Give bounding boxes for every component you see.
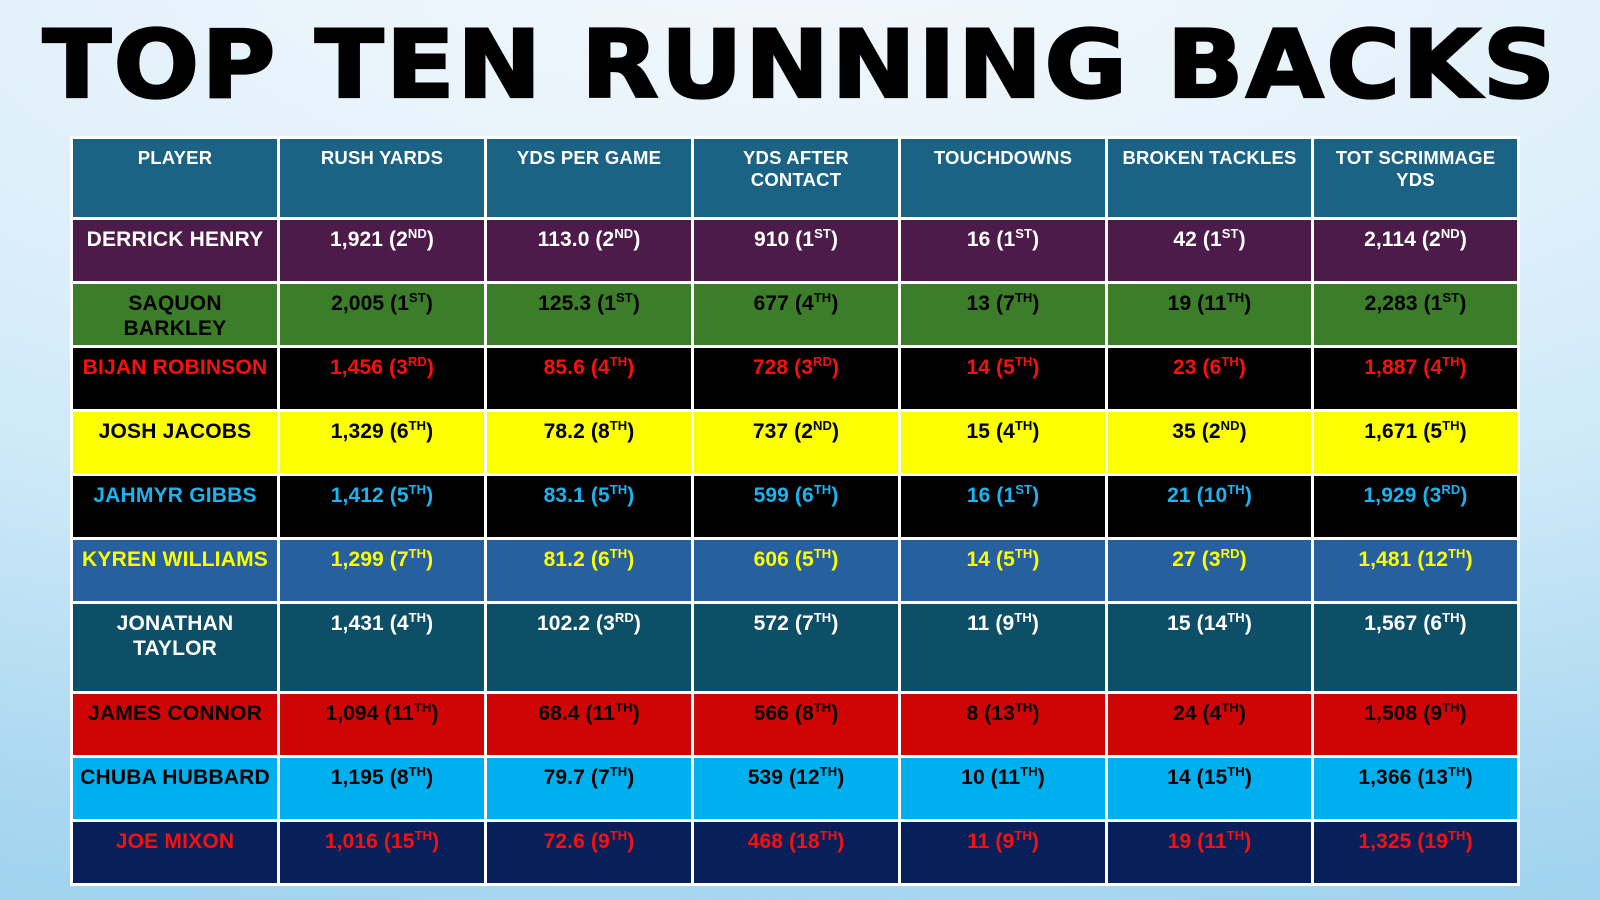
column-header-tot-scrimmage-yds[interactable]: TOT SCRIMMAGE YDS (1314, 139, 1517, 217)
stat-rank: 6 (397, 420, 409, 443)
stat-value: 11 (967, 612, 989, 635)
table-row: CHUBA HUBBARD1,195 (8TH)79.7 (7TH)539 (1… (73, 758, 1517, 819)
stat-value: 1,921 (330, 228, 383, 251)
stat-rank: 1 (604, 292, 616, 315)
cell-rush-yards: 2,005 (1ST) (280, 284, 484, 345)
stat-value: 16 (967, 228, 991, 251)
cell-yds-after-contact: 572 (7TH) (694, 604, 898, 691)
cell-yds-after-contact: 728 (3RD) (694, 348, 898, 409)
stat-rank: 10 (1204, 484, 1228, 507)
cell-rush-yards: 1,329 (6TH) (280, 412, 484, 473)
stat-rank-suffix: TH (1227, 482, 1245, 497)
stat-value: 8 (966, 702, 978, 725)
stat-rank: 19 (1424, 830, 1448, 853)
stat-rank-suffix: TH (1015, 418, 1033, 433)
column-header-yds-per-game[interactable]: YDS PER GAME (487, 139, 691, 217)
player-name-cell[interactable]: CHUBA HUBBARD (73, 758, 277, 819)
cell-broken-tackles: 19 (11TH) (1108, 822, 1311, 883)
stat-rank-suffix: RD (408, 354, 427, 369)
cell-yds-after-contact: 910 (1ST) (694, 220, 898, 281)
stat-rank: 4 (1003, 420, 1015, 443)
cell-tot-scrimmage-yds: 1,325 (19TH) (1314, 822, 1517, 883)
stat-rank-suffix: TH (610, 482, 628, 497)
cell-touchdowns: 15 (4TH) (901, 412, 1105, 473)
stat-rank: 7 (598, 766, 610, 789)
cell-yds-after-contact: 566 (8TH) (694, 694, 898, 755)
stat-rank-suffix: TH (814, 482, 832, 497)
stat-rank-suffix: RD (813, 354, 832, 369)
stat-rank-suffix: TH (820, 828, 838, 843)
stat-value: 1,929 (1364, 484, 1417, 507)
stat-value: 72.6 (544, 830, 585, 853)
stat-rank: 3 (1430, 484, 1442, 507)
stat-rank: 11 (392, 702, 414, 725)
cell-yds-per-game: 78.2 (8TH) (487, 412, 691, 473)
stat-rank: 6 (802, 484, 814, 507)
stat-value: 81.2 (544, 548, 585, 571)
table-row: BIJAN ROBINSON1,456 (3RD)85.6 (4TH)728 (… (73, 348, 1517, 409)
cell-tot-scrimmage-yds: 1,671 (5TH) (1314, 412, 1517, 473)
player-name-cell[interactable]: JAHMYR GIBBS (73, 476, 277, 537)
stat-value: 468 (748, 830, 783, 853)
cell-yds-per-game: 83.1 (5TH) (487, 476, 691, 537)
stat-rank-suffix: TH (1221, 700, 1239, 715)
stat-rank: 2 (1429, 228, 1441, 251)
stat-rank: 11 (593, 702, 615, 725)
cell-tot-scrimmage-yds: 2,114 (2ND) (1314, 220, 1517, 281)
stat-value: 24 (1173, 702, 1197, 725)
stat-value: 1,567 (1364, 612, 1417, 635)
stat-rank-suffix: TH (414, 700, 432, 715)
stat-rank: 1 (397, 292, 409, 315)
stat-rank: 13 (991, 702, 1015, 725)
stat-value: 11 (967, 830, 989, 853)
cell-yds-after-contact: 468 (18TH) (694, 822, 898, 883)
stat-rank: 9 (1003, 830, 1015, 853)
cell-yds-after-contact: 606 (5TH) (694, 540, 898, 601)
player-name-cell[interactable]: JOE MIXON (73, 822, 277, 883)
stat-rank: 2 (603, 228, 615, 251)
stat-value: 42 (1173, 228, 1197, 251)
stat-rank: 3 (396, 356, 408, 379)
cell-yds-per-game: 79.7 (7TH) (487, 758, 691, 819)
stat-rank: 5 (1003, 548, 1015, 571)
stat-rank-suffix: TH (1227, 764, 1245, 779)
stats-table-container: PLAYER RUSH YARDS YDS PER GAME YDS AFTER… (70, 136, 1496, 886)
stat-rank-suffix: ST (1222, 226, 1239, 241)
stat-rank: 11 (1204, 292, 1226, 315)
stat-rank: 12 (1424, 548, 1448, 571)
stat-value: 1,325 (1358, 830, 1411, 853)
stat-value: 68.4 (538, 702, 579, 725)
stat-rank: 14 (1204, 612, 1228, 635)
stat-rank: 3 (801, 356, 813, 379)
stat-rank-suffix: TH (814, 290, 832, 305)
cell-tot-scrimmage-yds: 2,283 (1ST) (1314, 284, 1517, 345)
cell-broken-tackles: 23 (6TH) (1108, 348, 1311, 409)
stat-rank: 5 (1003, 356, 1015, 379)
stat-rank: 8 (802, 702, 814, 725)
stat-value: 737 (753, 420, 788, 443)
cell-tot-scrimmage-yds: 1,567 (6TH) (1314, 604, 1517, 691)
stat-value: 677 (754, 292, 789, 315)
stat-rank: 12 (796, 766, 820, 789)
stat-value: 1,299 (331, 548, 384, 571)
stat-rank: 7 (802, 612, 814, 635)
stat-rank: 1 (1210, 228, 1222, 251)
stat-rank: 4 (1210, 702, 1222, 725)
cell-broken-tackles: 19 (11TH) (1108, 284, 1311, 345)
slide-canvas: TOP TEN RUNNING BACKS PLAYER RUSH YARDS … (0, 0, 1600, 900)
stat-value: 1,508 (1364, 702, 1417, 725)
stat-rank-suffix: RD (615, 610, 634, 625)
stat-rank: 1 (802, 228, 814, 251)
cell-yds-per-game: 68.4 (11TH) (487, 694, 691, 755)
stat-rank-suffix: TH (1227, 828, 1245, 843)
cell-broken-tackles: 35 (2ND) (1108, 412, 1311, 473)
stat-rank: 7 (1003, 292, 1015, 315)
stat-rank-suffix: TH (1442, 610, 1460, 625)
stat-rank-suffix: TH (409, 482, 427, 497)
stat-rank-suffix: ND (1221, 418, 1240, 433)
cell-yds-after-contact: 539 (12TH) (694, 758, 898, 819)
stat-value: 1,456 (330, 356, 383, 379)
cell-broken-tackles: 14 (15TH) (1108, 758, 1311, 819)
stat-value: 2,283 (1365, 292, 1418, 315)
cell-yds-per-game: 81.2 (6TH) (487, 540, 691, 601)
stat-rank-suffix: ND (813, 418, 832, 433)
stat-value: 1,329 (331, 420, 384, 443)
table-header-row: PLAYER RUSH YARDS YDS PER GAME YDS AFTER… (73, 139, 1517, 217)
stat-value: 15 (966, 420, 990, 443)
stat-value: 1,195 (331, 766, 384, 789)
player-name-cell[interactable]: JAMES CONNOR (73, 694, 277, 755)
stat-rank-suffix: TH (814, 700, 832, 715)
cell-tot-scrimmage-yds: 1,887 (4TH) (1314, 348, 1517, 409)
stat-rank-suffix: ST (1442, 290, 1459, 305)
stat-rank: 9 (1430, 702, 1442, 725)
table-row: KYREN WILLIAMS1,299 (7TH)81.2 (6TH)606 (… (73, 540, 1517, 601)
stat-value: 16 (967, 484, 991, 507)
cell-touchdowns: 14 (5TH) (901, 540, 1105, 601)
stat-rank: 6 (598, 548, 610, 571)
stat-value: 21 (1167, 484, 1191, 507)
cell-yds-after-contact: 599 (6TH) (694, 476, 898, 537)
stat-value: 78.2 (544, 420, 585, 443)
cell-broken-tackles: 15 (14TH) (1108, 604, 1311, 691)
stat-rank-suffix: TH (1448, 546, 1466, 561)
stat-rank-suffix: TH (1448, 828, 1466, 843)
stat-value: 2,114 (1364, 228, 1416, 251)
stat-rank-suffix: ND (614, 226, 633, 241)
stat-value: 599 (754, 484, 789, 507)
cell-rush-yards: 1,431 (4TH) (280, 604, 484, 691)
cell-yds-per-game: 125.3 (1ST) (487, 284, 691, 345)
table-row: JAMES CONNOR1,094 (11TH)68.4 (11TH)566 (… (73, 694, 1517, 755)
table-row: JAHMYR GIBBS1,412 (5TH)83.1 (5TH)599 (6T… (73, 476, 1517, 537)
cell-yds-after-contact: 737 (2ND) (694, 412, 898, 473)
stat-rank-suffix: TH (1020, 764, 1038, 779)
player-name-cell[interactable]: DERRICK HENRY (73, 220, 277, 281)
stat-rank: 4 (1430, 356, 1442, 379)
cell-tot-scrimmage-yds: 1,508 (9TH) (1314, 694, 1517, 755)
cell-rush-yards: 1,094 (11TH) (280, 694, 484, 755)
stat-rank-suffix: ST (409, 290, 426, 305)
stat-rank: 2 (801, 420, 813, 443)
player-name-cell[interactable]: KYREN WILLIAMS (73, 540, 277, 601)
stat-rank-suffix: TH (1442, 418, 1460, 433)
stat-rank-suffix: TH (615, 700, 633, 715)
stat-rank: 4 (802, 292, 814, 315)
stat-value: 125.3 (538, 292, 591, 315)
cell-touchdowns: 16 (1ST) (901, 220, 1105, 281)
player-name-cell[interactable]: BIJAN ROBINSON (73, 348, 277, 409)
stat-rank-suffix: ND (1441, 226, 1460, 241)
stat-rank-suffix: TH (1227, 610, 1245, 625)
stat-rank: 5 (397, 484, 409, 507)
cell-broken-tackles: 42 (1ST) (1108, 220, 1311, 281)
stat-rank: 18 (796, 830, 820, 853)
stat-rank: 5 (598, 484, 610, 507)
cell-touchdowns: 10 (11TH) (901, 758, 1105, 819)
stat-value: 15 (1167, 612, 1191, 635)
stat-rank-suffix: TH (820, 764, 838, 779)
stat-rank: 4 (598, 356, 610, 379)
stat-rank: 2 (396, 228, 408, 251)
stat-rank: 9 (598, 830, 610, 853)
stat-rank-suffix: TH (1442, 700, 1460, 715)
stat-value: 13 (966, 292, 990, 315)
cell-touchdowns: 8 (13TH) (901, 694, 1105, 755)
column-header-broken-tackles[interactable]: BROKEN TACKLES (1108, 139, 1311, 217)
stat-value: 113.0 (538, 228, 590, 251)
cell-tot-scrimmage-yds: 1,481 (12TH) (1314, 540, 1517, 601)
cell-tot-scrimmage-yds: 1,929 (3RD) (1314, 476, 1517, 537)
stat-rank: 5 (1430, 420, 1442, 443)
stat-rank: 8 (598, 420, 610, 443)
table-body: DERRICK HENRY1,921 (2ND)113.0 (2ND)910 (… (73, 220, 1517, 883)
cell-rush-yards: 1,456 (3RD) (280, 348, 484, 409)
stat-value: 728 (753, 356, 788, 379)
stat-rank-suffix: TH (415, 828, 433, 843)
stat-rank: 7 (397, 548, 409, 571)
cell-touchdowns: 11 (9TH) (901, 822, 1105, 883)
cell-tot-scrimmage-yds: 1,366 (13TH) (1314, 758, 1517, 819)
stat-value: 10 (961, 766, 985, 789)
stat-value: 19 (1168, 292, 1192, 315)
stat-rank-suffix: TH (610, 354, 628, 369)
stat-rank-suffix: TH (610, 546, 628, 561)
player-name-cell[interactable]: JONATHAN TAYLOR (73, 604, 277, 691)
stat-rank-suffix: TH (610, 418, 628, 433)
stat-rank-suffix: TH (1015, 354, 1033, 369)
cell-broken-tackles: 24 (4TH) (1108, 694, 1311, 755)
stat-rank: 8 (397, 766, 409, 789)
stat-value: 1,887 (1364, 356, 1417, 379)
stat-rank-suffix: TH (1015, 290, 1033, 305)
stat-rank-suffix: TH (409, 610, 427, 625)
stat-value: 14 (1167, 766, 1191, 789)
stat-value: 572 (754, 612, 789, 635)
stat-rank: 13 (1424, 766, 1448, 789)
cell-yds-per-game: 72.6 (9TH) (487, 822, 691, 883)
stat-value: 606 (754, 548, 789, 571)
stat-value: 539 (748, 766, 783, 789)
stat-rank-suffix: ST (814, 226, 831, 241)
stat-rank: 4 (397, 612, 409, 635)
stat-rank: 1 (1003, 228, 1015, 251)
stat-value: 566 (754, 702, 789, 725)
page-title: TOP TEN RUNNING BACKS (0, 12, 1600, 120)
stat-rank-suffix: TH (610, 828, 628, 843)
cell-touchdowns: 11 (9TH) (901, 604, 1105, 691)
player-name-cell[interactable]: SAQUON BARKLEY (73, 284, 277, 345)
stat-rank-suffix: TH (409, 418, 427, 433)
stat-value: 102.2 (537, 612, 590, 635)
stat-rank-suffix: TH (814, 610, 832, 625)
cell-yds-per-game: 102.2 (3RD) (487, 604, 691, 691)
table-row: SAQUON BARKLEY2,005 (1ST)125.3 (1ST)677 … (73, 284, 1517, 345)
cell-rush-yards: 1,195 (8TH) (280, 758, 484, 819)
stat-value: 1,481 (1358, 548, 1411, 571)
stat-rank-suffix: ST (616, 290, 633, 305)
cell-yds-per-game: 113.0 (2ND) (487, 220, 691, 281)
stat-value: 1,671 (1364, 420, 1417, 443)
table-row: JOSH JACOBS1,329 (6TH)78.2 (8TH)737 (2ND… (73, 412, 1517, 473)
cell-touchdowns: 16 (1ST) (901, 476, 1105, 537)
stat-rank: 6 (1210, 356, 1222, 379)
stat-rank-suffix: TH (1015, 546, 1033, 561)
cell-broken-tackles: 27 (3RD) (1108, 540, 1311, 601)
stat-value: 1,366 (1358, 766, 1411, 789)
cell-yds-after-contact: 677 (4TH) (694, 284, 898, 345)
stat-rank: 9 (1003, 612, 1015, 635)
stat-rank-suffix: TH (1015, 700, 1033, 715)
player-name-cell[interactable]: JOSH JACOBS (73, 412, 277, 473)
table-row: JOE MIXON1,016 (15TH)72.6 (9TH)468 (18TH… (73, 822, 1517, 883)
cell-touchdowns: 14 (5TH) (901, 348, 1105, 409)
stat-value: 23 (1173, 356, 1197, 379)
stat-rank: 1 (1003, 484, 1015, 507)
stat-rank-suffix: ST (1015, 482, 1032, 497)
stat-value: 14 (966, 356, 990, 379)
stat-rank: 2 (1209, 420, 1221, 443)
table-row: DERRICK HENRY1,921 (2ND)113.0 (2ND)910 (… (73, 220, 1517, 281)
cell-touchdowns: 13 (7TH) (901, 284, 1105, 345)
stat-rank: 11 (1204, 830, 1226, 853)
stat-value: 79.7 (544, 766, 585, 789)
stat-rank: 5 (802, 548, 814, 571)
stat-rank-suffix: TH (1227, 290, 1245, 305)
cell-yds-per-game: 85.6 (4TH) (487, 348, 691, 409)
stat-rank: 1 (1431, 292, 1443, 315)
table-header: PLAYER RUSH YARDS YDS PER GAME YDS AFTER… (73, 139, 1517, 217)
cell-rush-yards: 1,299 (7TH) (280, 540, 484, 601)
stat-rank-suffix: TH (1448, 764, 1466, 779)
stat-value: 83.1 (544, 484, 585, 507)
stat-value: 2,005 (331, 292, 384, 315)
stat-rank-suffix: TH (1014, 610, 1032, 625)
stat-rank-suffix: ND (408, 226, 427, 241)
cell-rush-yards: 1,412 (5TH) (280, 476, 484, 537)
stat-value: 1,094 (325, 702, 378, 725)
stat-rank-suffix: TH (814, 546, 832, 561)
stat-rank-suffix: RD (1221, 546, 1240, 561)
stat-rank-suffix: TH (409, 764, 427, 779)
column-header-yds-after-contact[interactable]: YDS AFTER CONTACT (694, 139, 898, 217)
cell-broken-tackles: 21 (10TH) (1108, 476, 1311, 537)
stat-rank-suffix: TH (1014, 828, 1032, 843)
stat-rank: 11 (998, 766, 1020, 789)
stat-rank: 15 (391, 830, 415, 853)
table-row: JONATHAN TAYLOR1,431 (4TH)102.2 (3RD)572… (73, 604, 1517, 691)
stat-value: 1,412 (331, 484, 384, 507)
column-header-player[interactable]: PLAYER (73, 139, 277, 217)
stat-value: 1,016 (325, 830, 378, 853)
stat-rank-suffix: TH (610, 764, 628, 779)
stat-rank: 15 (1204, 766, 1228, 789)
stat-rank-suffix: ST (1015, 226, 1032, 241)
stat-rank-suffix: TH (409, 546, 427, 561)
stat-rank-suffix: RD (1441, 482, 1460, 497)
stat-value: 1,431 (331, 612, 384, 635)
column-header-touchdowns[interactable]: TOUCHDOWNS (901, 139, 1105, 217)
stat-rank: 3 (603, 612, 615, 635)
stat-value: 19 (1168, 830, 1192, 853)
column-header-rush-yards[interactable]: RUSH YARDS (280, 139, 484, 217)
stat-value: 27 (1172, 548, 1196, 571)
stat-value: 35 (1172, 420, 1196, 443)
stat-rank: 6 (1430, 612, 1442, 635)
cell-rush-yards: 1,921 (2ND) (280, 220, 484, 281)
stat-value: 14 (966, 548, 990, 571)
stat-value: 910 (754, 228, 789, 251)
stat-value: 85.6 (544, 356, 585, 379)
top-ten-running-backs-table: PLAYER RUSH YARDS YDS PER GAME YDS AFTER… (70, 136, 1520, 886)
stat-rank: 3 (1209, 548, 1221, 571)
stat-rank-suffix: TH (1221, 354, 1239, 369)
stat-rank-suffix: TH (1442, 354, 1460, 369)
cell-rush-yards: 1,016 (15TH) (280, 822, 484, 883)
